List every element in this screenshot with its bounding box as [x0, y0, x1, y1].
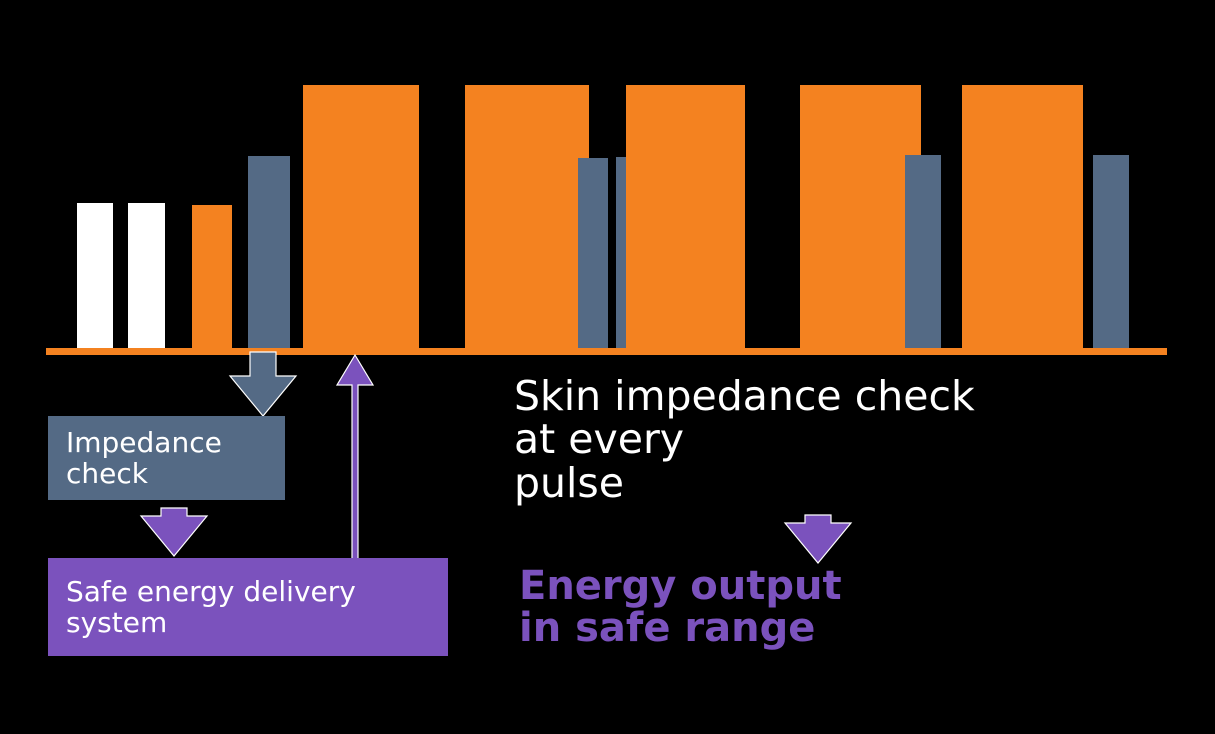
pulse-bar-7	[800, 85, 921, 350]
pulse-bar-1	[77, 203, 113, 350]
pulse-bar-5	[465, 85, 589, 350]
impedance-check-box[interactable]: Impedance check	[48, 416, 285, 500]
impedance-down-arrow	[230, 352, 296, 416]
safe-energy-up-arrow	[337, 355, 373, 560]
chart-baseline	[46, 348, 1167, 355]
impedance-to-safe-arrow	[141, 508, 207, 556]
pulse-bar-6	[626, 85, 745, 350]
impedance-bar-4	[905, 155, 941, 350]
impedance-check-label: Impedance check	[48, 427, 285, 490]
chart-canvas: Impedance check Safe energy delivery sys…	[0, 0, 1215, 734]
skin-impedance-callout: Skin impedance check at every pulse	[514, 375, 975, 505]
impedance-bar-2	[578, 158, 608, 350]
safe-energy-delivery-label: Safe energy delivery system	[48, 576, 448, 639]
impedance-bar-1	[248, 156, 290, 350]
impedance-bar-5	[1093, 155, 1129, 350]
pulse-bar-2	[128, 203, 165, 350]
energy-output-callout: Energy output in safe range	[519, 565, 842, 650]
pulse-bar-3	[192, 205, 232, 350]
pulse-bar-8	[962, 85, 1083, 350]
pulse-bar-4	[303, 85, 419, 350]
energy-output-arrow	[785, 515, 851, 563]
safe-energy-delivery-box[interactable]: Safe energy delivery system	[48, 558, 448, 656]
